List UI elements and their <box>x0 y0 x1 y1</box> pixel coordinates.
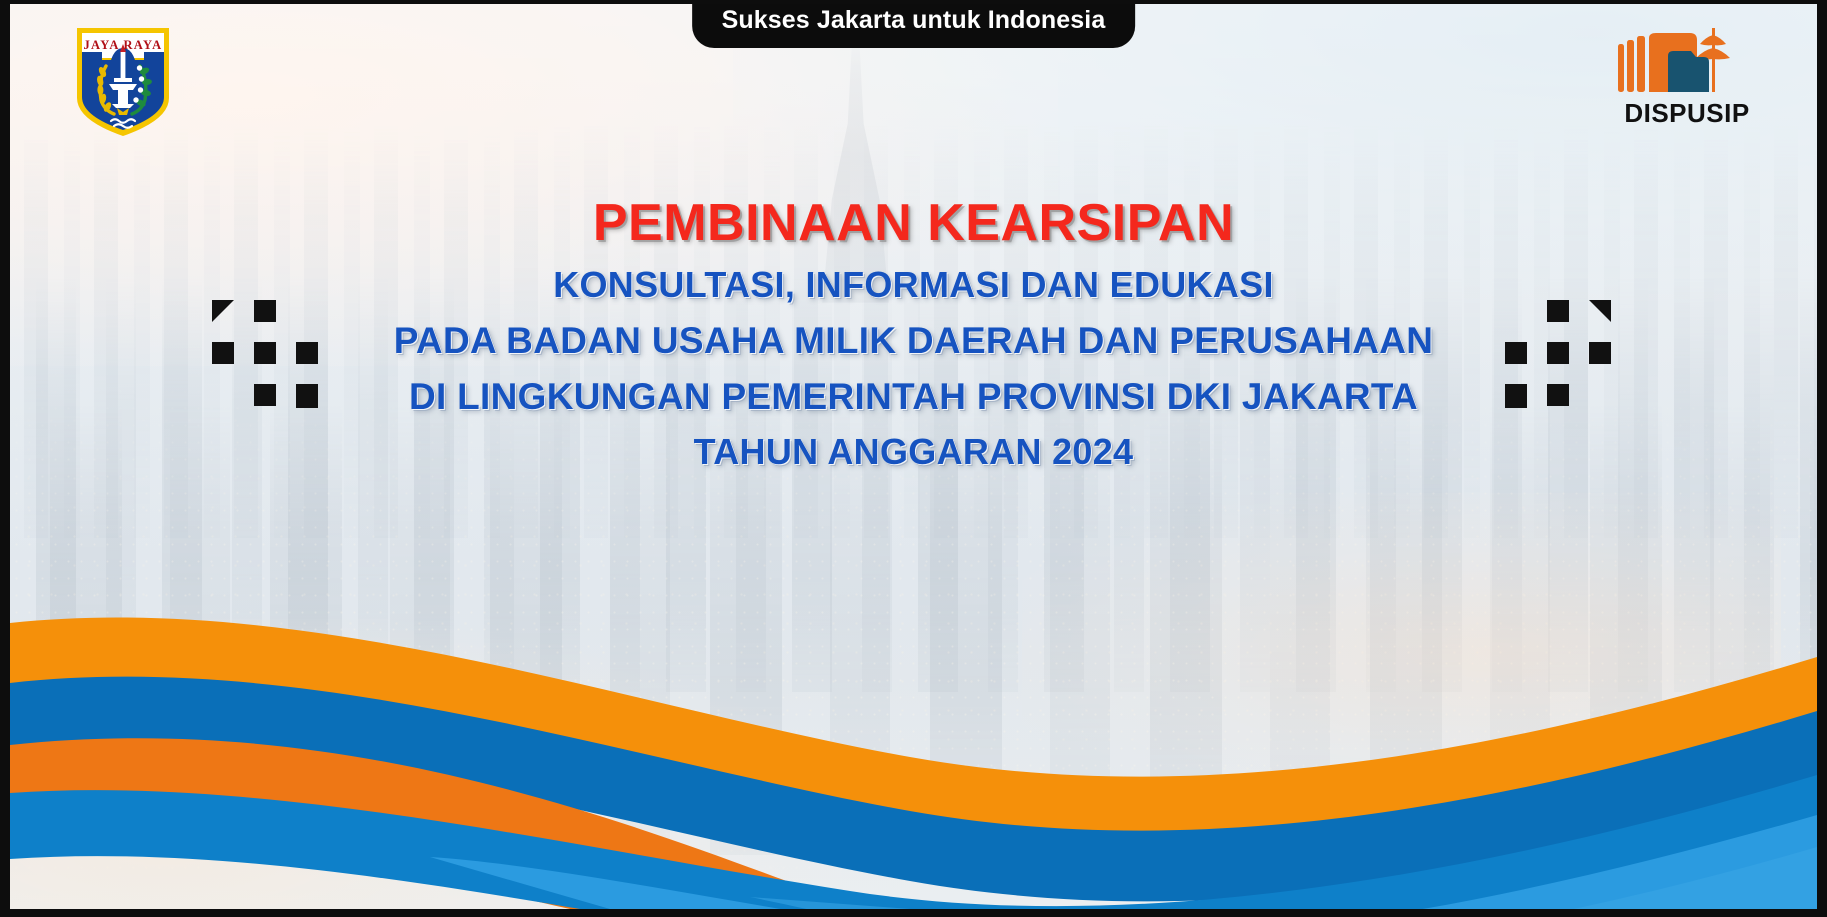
title-main-heading: PEMBINAAN KEARSIPAN <box>0 196 1827 250</box>
poster-title-block: PEMBINAAN KEARSIPAN KONSULTASI, INFORMAS… <box>0 196 1827 480</box>
dispusip-logo-mark <box>1612 22 1762 98</box>
title-subheading-line-1: KONSULTASI, INFORMASI DAN EDUKASI <box>0 258 1827 313</box>
decorative-wave-ribbons <box>10 579 1817 909</box>
dispusip-wordmark: DISPUSIP <box>1624 100 1749 126</box>
poster-canvas: Sukses Jakarta untuk Indonesia <box>0 0 1827 917</box>
title-fiscal-year-line: TAHUN ANGGARAN 2024 <box>0 425 1827 480</box>
tagline-banner: Sukses Jakarta untuk Indonesia <box>692 0 1136 48</box>
jakarta-coat-of-arms-emblem: JAYA RAYA <box>71 22 175 140</box>
title-subheading-line-3: DI LINGKUNGAN PEMERINTAH PROVINSI DKI JA… <box>0 369 1827 425</box>
emblem-motto-text: JAYA RAYA <box>84 38 163 52</box>
title-subheading-line-2: PADA BADAN USAHA MILIK DAERAH DAN PERUSA… <box>0 313 1827 369</box>
dispusip-logo: DISPUSIP <box>1597 22 1777 130</box>
